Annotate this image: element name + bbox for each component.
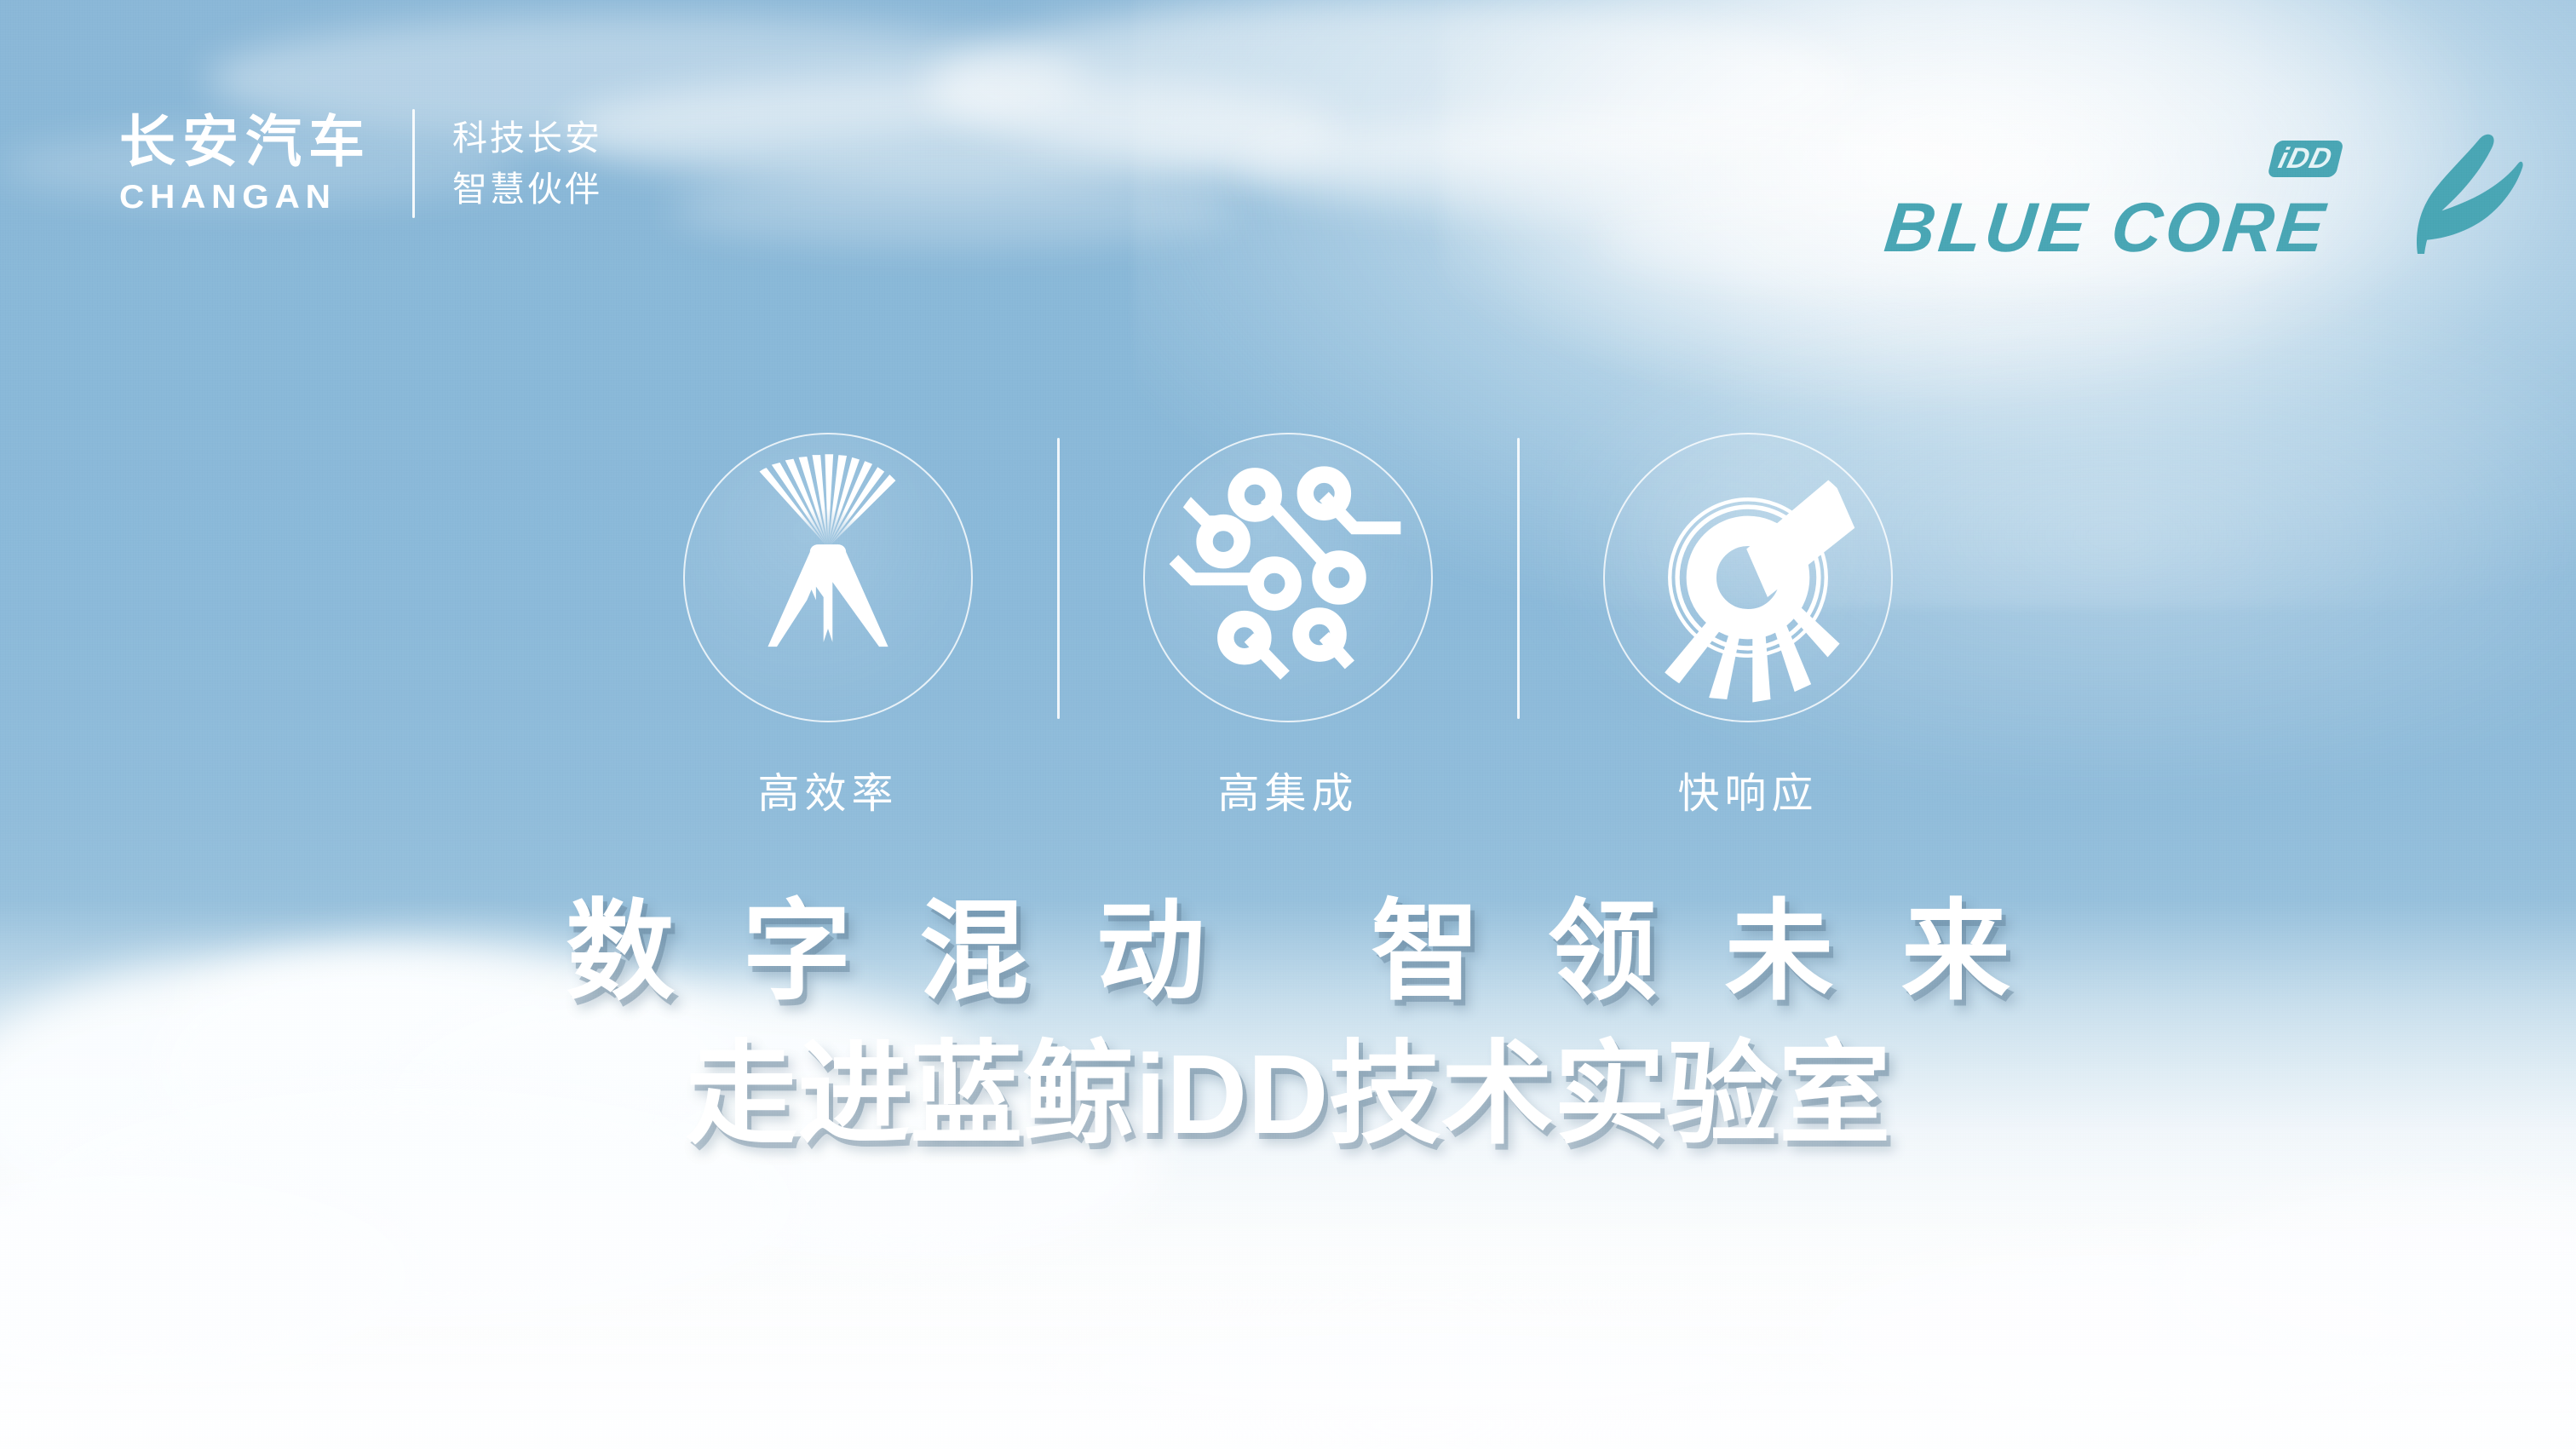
changan-slogan: 科技长安 智慧伙伴 (452, 121, 602, 207)
feature-icon-circle (1143, 433, 1433, 722)
feature-item-integration[interactable]: 高集成 (1105, 433, 1471, 815)
feature-label: 快响应 (1677, 773, 1818, 815)
feature-divider-wrap (1011, 433, 1105, 719)
feature-item-response[interactable]: 快响应 (1565, 433, 1931, 815)
blue-core-text: BLUE CORE (1881, 189, 2331, 267)
changan-wordmark: 长安汽车 CHANGAN (119, 113, 371, 214)
changan-name-cn: 长安汽车 (119, 113, 371, 170)
slogan-line-2: 智慧伙伴 (452, 172, 602, 207)
feature-icon-circle (1603, 433, 1893, 722)
idd-badge: iDD (2268, 141, 2344, 177)
feature-label: 高集成 (1217, 773, 1358, 815)
cloud-puff (1031, 1304, 1803, 1435)
feature-divider-wrap (1471, 433, 1565, 719)
feature-item-efficiency[interactable]: 高效率 (645, 433, 1011, 815)
logo-divider (412, 109, 415, 218)
idd-badge-label: iDD (2276, 144, 2336, 173)
changan-name-en: CHANGAN (119, 181, 336, 214)
blue-core-idd-logo[interactable]: BLUE CORE iDD (1885, 128, 2523, 263)
blue-core-wordmark: BLUE CORE iDD (1882, 193, 2332, 263)
gauge-rays-icon (1620, 450, 1876, 705)
cloud-streak (670, 174, 1236, 246)
feature-divider (1517, 438, 1520, 719)
feature-row: 高效率 (0, 433, 2576, 815)
slogan-line-1: 科技长安 (452, 121, 602, 156)
changan-logo[interactable]: 长安汽车 CHANGAN 科技长安 智慧伙伴 (119, 109, 602, 218)
whale-tail-icon (2336, 128, 2523, 260)
headline-line-1: 数 字 混 动 智 领 未 来 (547, 891, 2029, 1013)
headline-line-2: 走进蓝鲸iDD技术实验室 (685, 1032, 1890, 1158)
feature-divider (1057, 438, 1060, 719)
feature-icon-circle (683, 433, 973, 722)
circuit-board-icon (1160, 450, 1416, 705)
headline-block: 数 字 混 动 智 领 未 来 走进蓝鲸iDD技术实验室 (0, 891, 2576, 1158)
key-visual-poster: 长安汽车 CHANGAN 科技长安 智慧伙伴 BLUE CORE iDD (0, 0, 2576, 1449)
feature-label: 高效率 (757, 773, 898, 815)
mountain-rays-icon (700, 450, 956, 705)
